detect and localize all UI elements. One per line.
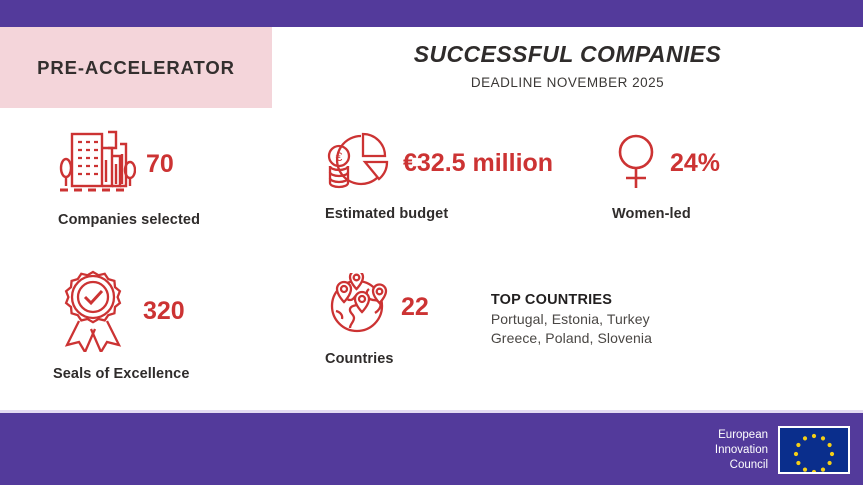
stat-budget-label: Estimated budget xyxy=(325,206,553,222)
page-title: SUCCESSFUL COMPANIES xyxy=(272,41,863,68)
stat-countries-row: 22 xyxy=(325,273,429,342)
stat-seals-label: Seals of Excellence xyxy=(53,366,190,382)
stat-budget-row: € €32.5 million xyxy=(325,130,553,197)
stat-countries-value: 22 xyxy=(401,295,429,320)
stat-companies-label: Companies selected xyxy=(58,212,200,228)
eic-word-european: European xyxy=(715,428,768,443)
stat-budget-value: €32.5 million xyxy=(403,151,553,176)
stat-companies-value: 70 xyxy=(146,152,174,177)
stat-women-label: Women-led xyxy=(612,206,720,222)
top-countries-heading: TOP COUNTRIES xyxy=(491,292,652,308)
slide-canvas: PRE-ACCELERATOR SUCCESSFUL COMPANIES DEA… xyxy=(0,0,863,485)
stat-estimated-budget: € €32.5 million Estimated budget xyxy=(325,130,553,222)
stat-women-row: 24% xyxy=(612,130,720,197)
top-countries-line-2: Greece, Poland, Slovenia xyxy=(491,330,652,346)
eic-logo-wordmark: European Innovation Council xyxy=(715,428,768,473)
globe-pins-icon xyxy=(325,273,391,342)
page-subtitle: DEADLINE NOVEMBER 2025 xyxy=(272,75,863,90)
stats-grid: 70 Companies selected € xyxy=(0,108,863,413)
stat-countries: 22 Countries xyxy=(325,273,429,367)
award-rosette-icon xyxy=(53,266,133,357)
top-countries-list: TOP COUNTRIES Portugal, Estonia, Turkey … xyxy=(491,292,652,346)
pre-accelerator-tag-label: PRE-ACCELERATOR xyxy=(37,57,235,79)
header-zone: SUCCESSFUL COMPANIES DEADLINE NOVEMBER 2… xyxy=(272,27,863,108)
buildings-icon xyxy=(58,126,136,203)
eic-logo: European Innovation Council xyxy=(715,426,850,474)
pre-accelerator-tag: PRE-ACCELERATOR xyxy=(0,27,272,108)
stat-countries-block: 22 Countries TOP COUNTRIES Portugal, Est… xyxy=(325,273,652,367)
stat-seals-of-excellence: 320 Seals of Excellence xyxy=(53,266,190,382)
stat-seals-row: 320 xyxy=(53,266,190,357)
eic-word-council: Council xyxy=(715,458,768,473)
stat-countries-label: Countries xyxy=(325,351,429,367)
venus-symbol-icon xyxy=(612,130,660,197)
top-purple-band xyxy=(0,0,863,27)
stat-women-value: 24% xyxy=(670,151,720,176)
stat-companies-row: 70 xyxy=(58,126,200,203)
top-countries-line-1: Portugal, Estonia, Turkey xyxy=(491,311,652,327)
eu-flag-icon xyxy=(778,426,850,474)
pie-chart-euro-icon: € xyxy=(325,130,393,197)
eic-word-innovation: Innovation xyxy=(715,443,768,458)
stat-women-led: 24% Women-led xyxy=(612,130,720,222)
stat-seals-value: 320 xyxy=(143,299,185,324)
svg-text:€: € xyxy=(336,150,343,164)
stat-companies-selected: 70 Companies selected xyxy=(58,126,200,228)
